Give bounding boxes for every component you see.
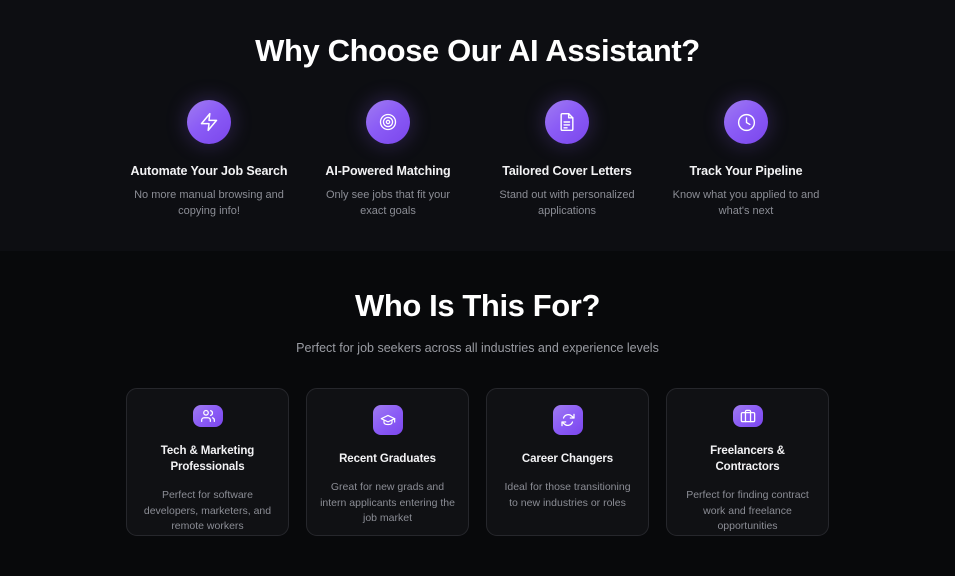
feature-title: Automate Your Job Search [131, 164, 288, 178]
feature-description: Only see jobs that fit your exact goals [312, 188, 464, 220]
document-icon [545, 100, 589, 144]
audience-card[interactable]: Tech & Marketing Professionals Perfect f… [126, 388, 289, 536]
audience-card[interactable]: Recent Graduates Great for new grads and… [306, 388, 469, 536]
feature-item: Automate Your Job Search No more manual … [120, 100, 299, 220]
audience-card-title: Freelancers & Contractors [680, 443, 815, 476]
audience-card[interactable]: Freelancers & Contractors Perfect for fi… [666, 388, 829, 536]
features-section-title: Why Choose Our AI Assistant? [0, 34, 955, 68]
target-bullseye-icon [366, 100, 410, 144]
briefcase-icon [733, 405, 763, 426]
lightning-bolt-icon [187, 100, 231, 144]
features-section: Why Choose Our AI Assistant? Automate Yo… [0, 0, 955, 251]
audience-card-description: Ideal for those transitioning to new ind… [500, 480, 635, 512]
feature-description: Stand out with personalized applications [491, 188, 643, 220]
graduation-cap-icon [373, 405, 403, 435]
audience-card-title: Tech & Marketing Professionals [140, 443, 275, 476]
features-grid: Automate Your Job Search No more manual … [0, 100, 955, 220]
feature-title: AI-Powered Matching [325, 164, 450, 178]
feature-item: AI-Powered Matching Only see jobs that f… [299, 100, 478, 220]
audience-card-description: Perfect for software developers, markete… [140, 488, 275, 535]
audience-card-title: Career Changers [522, 451, 613, 468]
audience-card[interactable]: Career Changers Ideal for those transiti… [486, 388, 649, 536]
feature-description: Know what you applied to and what's next [670, 188, 822, 220]
feature-title: Tailored Cover Letters [502, 164, 632, 178]
audience-section-title: Who Is This For? [0, 289, 955, 323]
feature-item: Tailored Cover Letters Stand out with pe… [478, 100, 657, 220]
audience-section-subtitle: Perfect for job seekers across all indus… [0, 341, 955, 355]
landing-page: Why Choose Our AI Assistant? Automate Yo… [0, 0, 955, 576]
audience-section: Who Is This For? Perfect for job seekers… [0, 251, 955, 576]
audience-card-description: Great for new grads and intern applicant… [320, 480, 455, 527]
feature-title: Track Your Pipeline [690, 164, 803, 178]
clock-icon [724, 100, 768, 144]
refresh-cycle-icon [553, 405, 583, 435]
audience-card-description: Perfect for finding contract work and fr… [680, 488, 815, 535]
users-icon [193, 405, 223, 426]
audience-card-title: Recent Graduates [339, 451, 436, 468]
feature-item: Track Your Pipeline Know what you applie… [657, 100, 836, 220]
feature-description: No more manual browsing and copying info… [133, 188, 285, 220]
audience-cards-grid: Tech & Marketing Professionals Perfect f… [0, 388, 955, 536]
